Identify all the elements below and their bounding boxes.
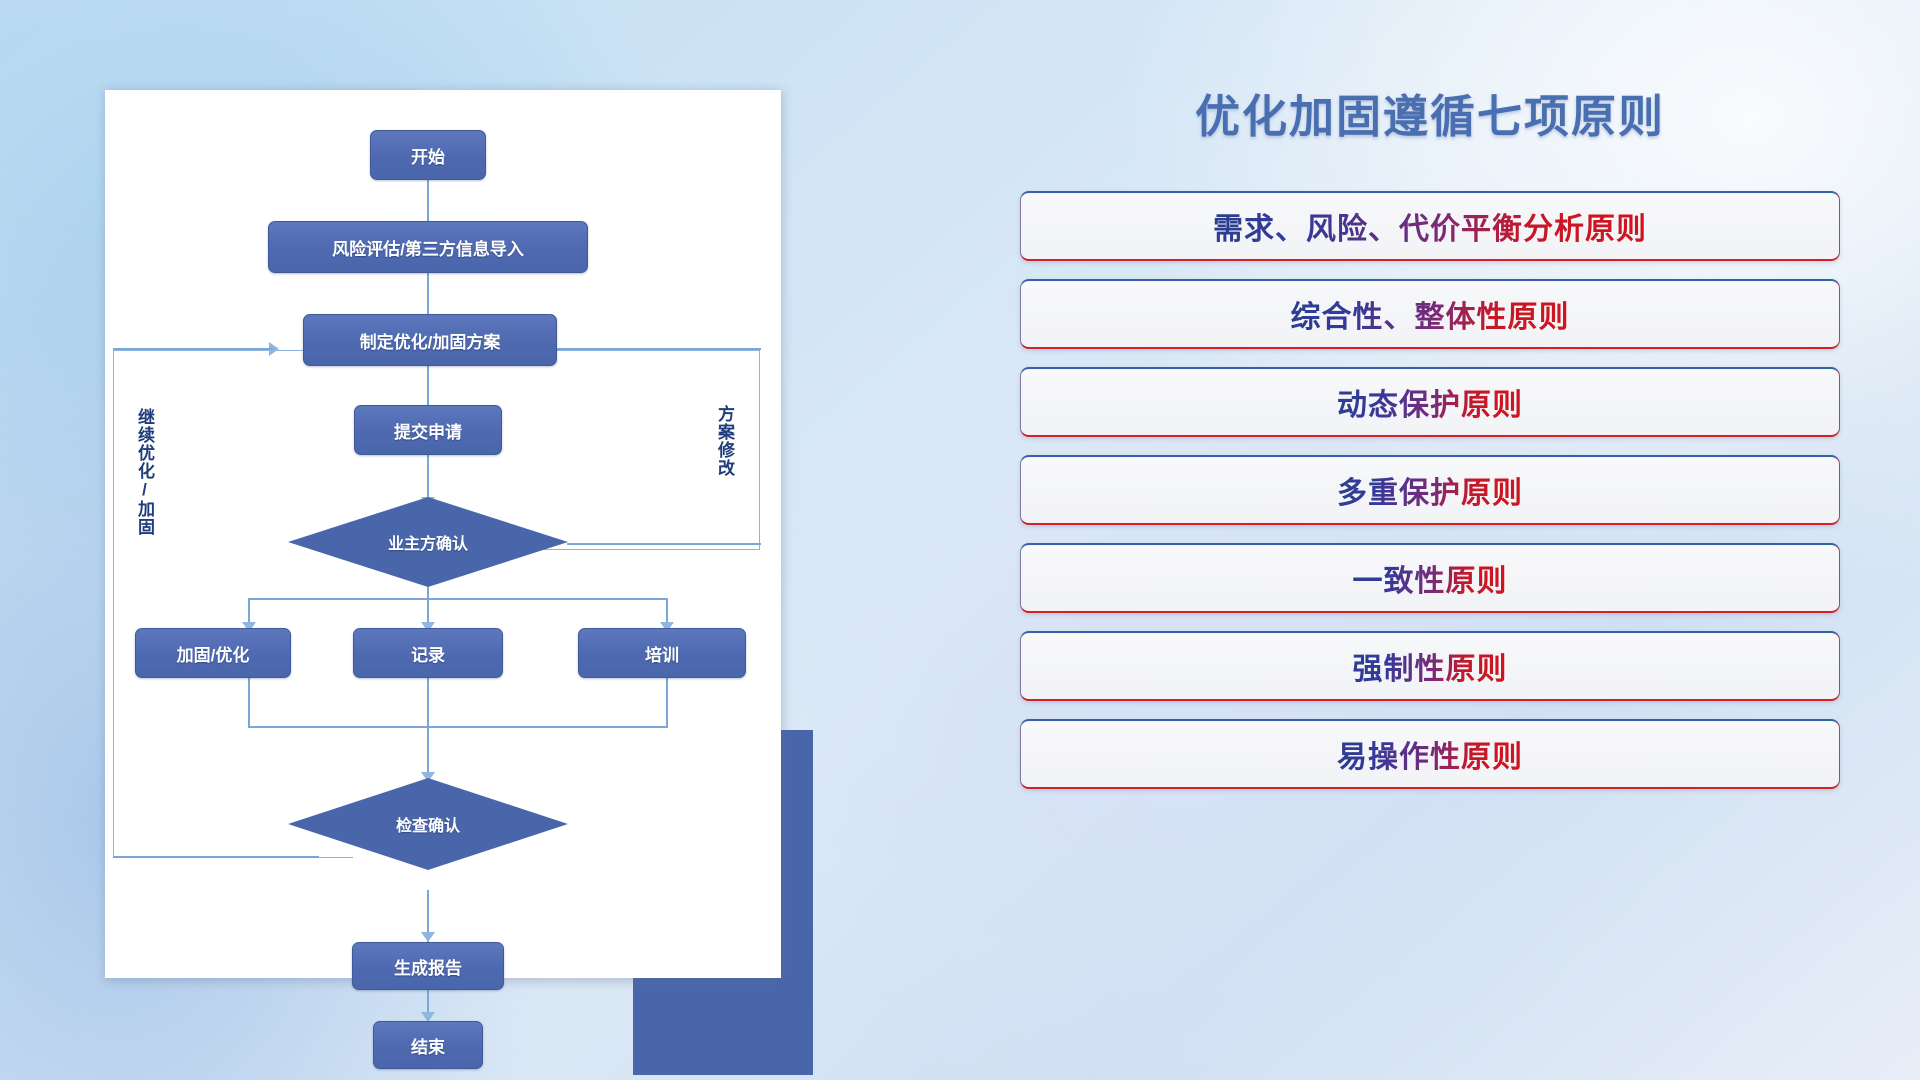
principle-card-3[interactable]: 动态保护原则 <box>1020 367 1840 437</box>
node-start[interactable]: 开始 <box>370 130 486 180</box>
node-owner-confirm[interactable]: 业主方确认 <box>288 497 568 587</box>
node-make-plan[interactable]: 制定优化/加固方案 <box>303 314 557 366</box>
merge-center-down <box>427 678 429 778</box>
principle-label-3: 动态保护原则 <box>1337 380 1523 424</box>
principle-card-6[interactable]: 强制性原则 <box>1020 631 1840 701</box>
node-owner-confirm-label: 业主方确认 <box>388 530 468 554</box>
principle-label-7: 易操作性原则 <box>1337 732 1523 776</box>
node-risk-assessment-label: 风险评估/第三方信息导入 <box>332 235 524 260</box>
principle-label-4: 多重保护原则 <box>1337 468 1523 512</box>
node-reinforce-optimize-label: 加固/优化 <box>177 641 250 666</box>
principles-panel: 优化加固遵循七项原则 需求、风险、代价平衡分析原则 综合性、整体性原则 动态保护… <box>1020 80 1840 1010</box>
node-end[interactable]: 结束 <box>373 1021 483 1069</box>
right-loop-label: 方案修改 <box>715 405 734 477</box>
branch-bus-top <box>248 598 668 600</box>
node-risk-assessment[interactable]: 风险评估/第三方信息导入 <box>268 221 588 273</box>
node-reinforce-optimize[interactable]: 加固/优化 <box>135 628 291 678</box>
node-end-label: 结束 <box>411 1033 445 1058</box>
connector-owner-down <box>427 580 429 628</box>
page-title: 优化加固遵循七项原则 <box>1020 80 1840 145</box>
node-training[interactable]: 培训 <box>578 628 746 678</box>
connector-left-loop-top <box>113 348 273 350</box>
connector-owner-right <box>567 543 761 545</box>
arrow-check-report <box>421 932 435 942</box>
node-submit-application-label: 提交申请 <box>394 418 462 443</box>
principle-label-6: 强制性原则 <box>1353 644 1508 688</box>
connector-right-loop-top <box>539 348 761 350</box>
principle-card-5[interactable]: 一致性原则 <box>1020 543 1840 613</box>
principle-card-2[interactable]: 综合性、整体性原则 <box>1020 279 1840 349</box>
merge-right-up <box>666 678 668 728</box>
principle-card-4[interactable]: 多重保护原则 <box>1020 455 1840 525</box>
node-training-label: 培训 <box>645 641 679 666</box>
node-check-confirm-label: 检查确认 <box>396 812 460 836</box>
principle-card-7[interactable]: 易操作性原则 <box>1020 719 1840 789</box>
node-record[interactable]: 记录 <box>353 628 503 678</box>
node-generate-report-label: 生成报告 <box>394 954 462 979</box>
merge-bus <box>248 726 668 728</box>
node-submit-application[interactable]: 提交申请 <box>354 405 502 455</box>
merge-left-up <box>248 678 250 728</box>
principle-card-1[interactable]: 需求、风险、代价平衡分析原则 <box>1020 191 1840 261</box>
principle-label-2: 综合性、整体性原则 <box>1291 292 1570 336</box>
node-make-plan-label: 制定优化/加固方案 <box>360 328 501 353</box>
flowchart-panel: 继续优化/加固 方案修改 开始 风险评估/第三方信息导入 制 <box>105 90 795 985</box>
node-generate-report[interactable]: 生成报告 <box>352 942 504 990</box>
node-check-confirm[interactable]: 检查确认 <box>288 778 568 870</box>
principle-label-5: 一致性原则 <box>1353 556 1508 600</box>
principle-label-1: 需求、风险、代价平衡分析原则 <box>1213 204 1647 248</box>
left-loop-label: 继续优化/加固 <box>135 408 154 536</box>
node-record-label: 记录 <box>411 641 445 666</box>
node-start-label: 开始 <box>411 143 445 168</box>
